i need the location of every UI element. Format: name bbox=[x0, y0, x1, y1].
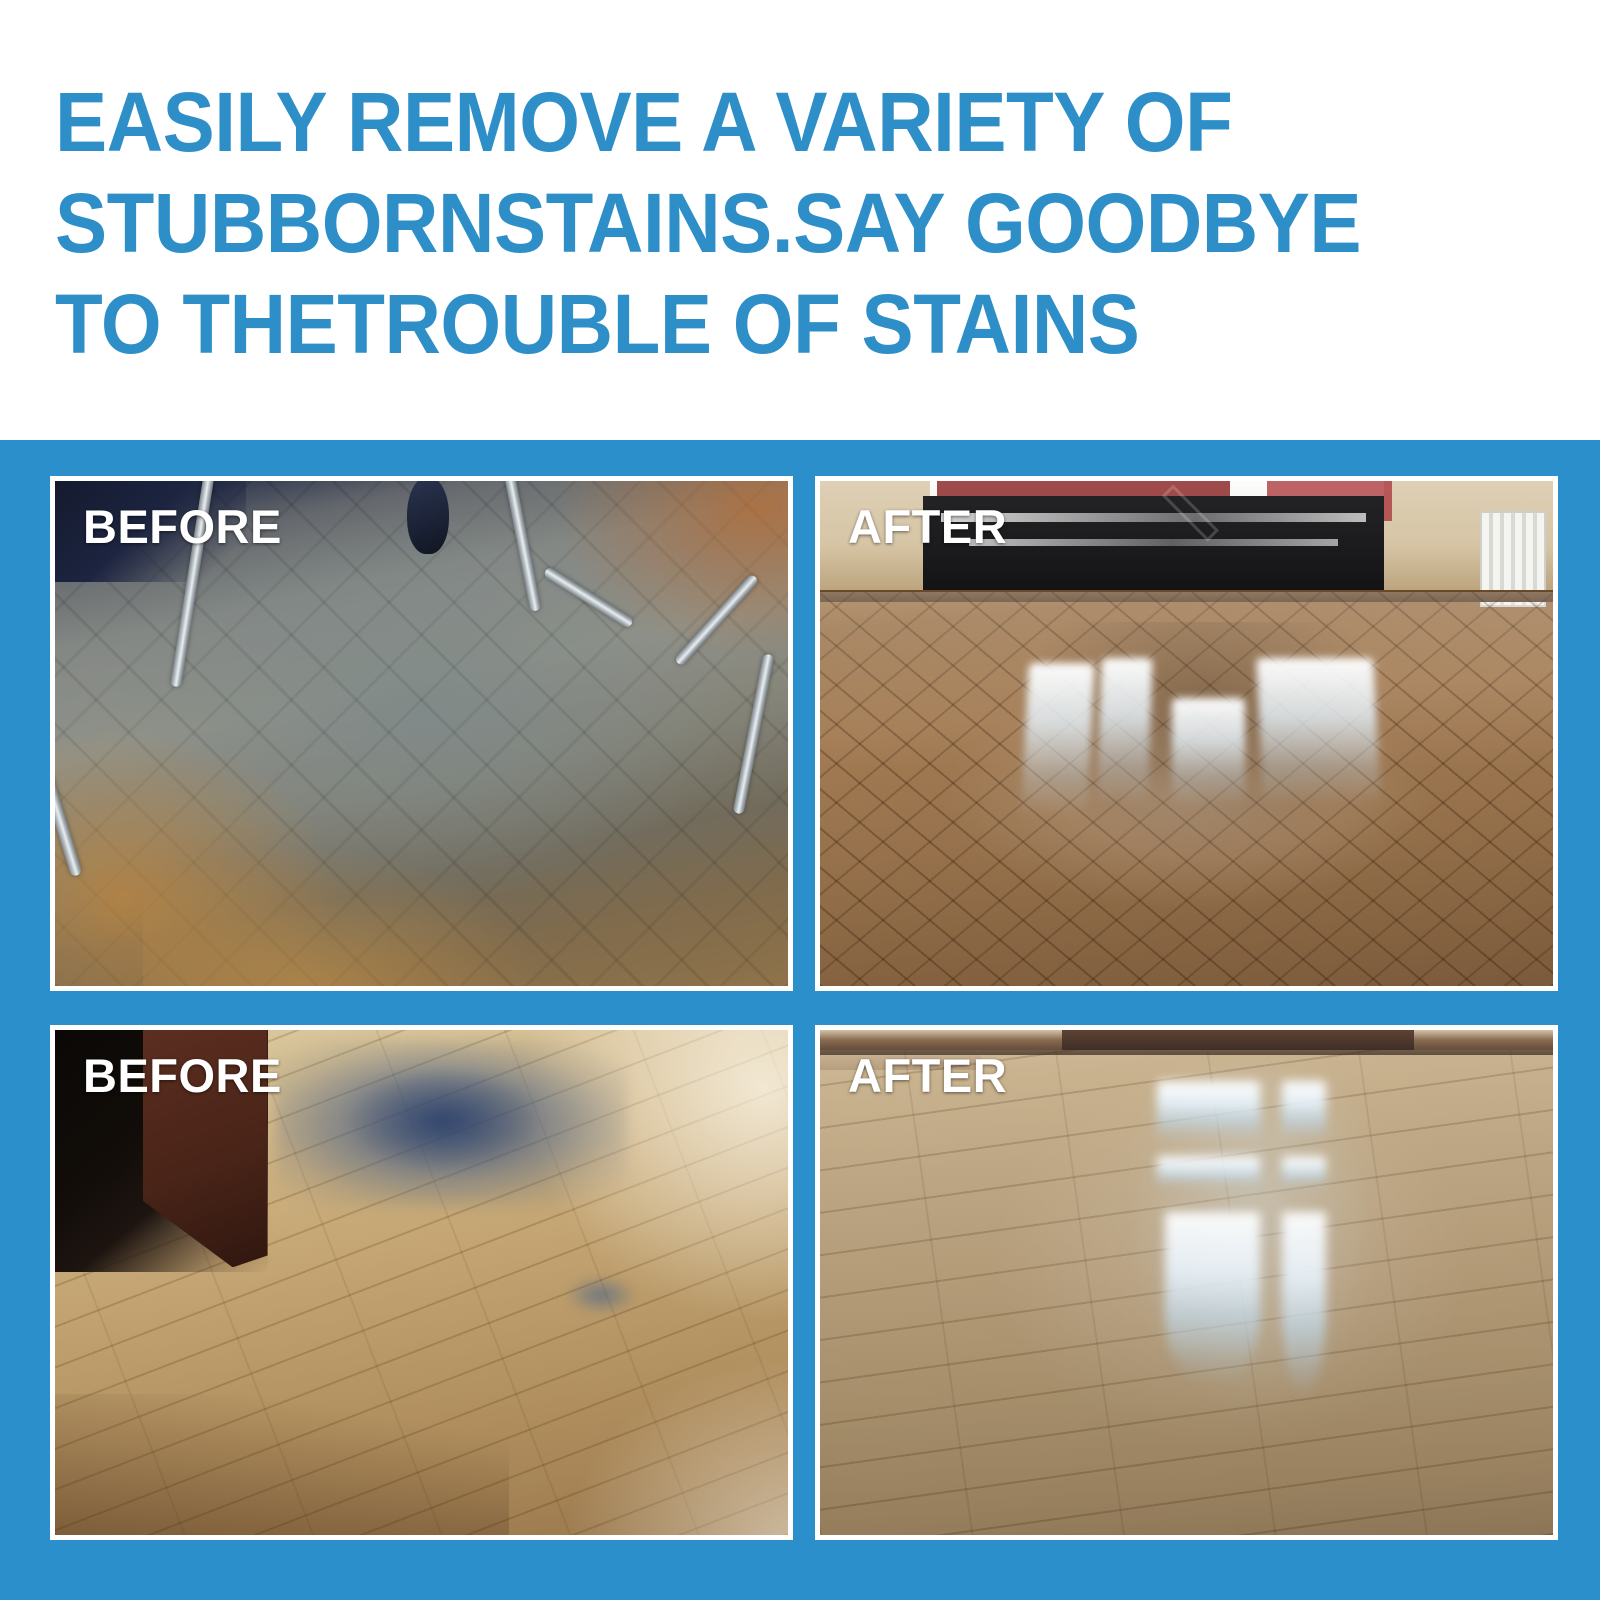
before-after-grid: BEFORE AFTER bbox=[50, 476, 1558, 1540]
poster: EASILY REMOVE A VARIETY OF STUBBORNSTAIN… bbox=[0, 0, 1600, 1600]
comparison-panel-before-top[interactable]: BEFORE bbox=[50, 476, 793, 991]
panel-label-before: BEFORE bbox=[83, 1052, 282, 1099]
comparison-panel-after-top[interactable]: AFTER bbox=[815, 476, 1558, 991]
gloss-sheen-overlay bbox=[820, 1030, 1553, 1535]
floor-photo-before-stained-oak bbox=[55, 1030, 788, 1535]
floor-photo-before-parquet bbox=[55, 481, 788, 986]
panel-label-after: AFTER bbox=[848, 1052, 1007, 1099]
blue-stain-core bbox=[348, 1070, 539, 1171]
highlight-bottom-right bbox=[568, 1358, 788, 1535]
gloss-sheen-overlay bbox=[820, 592, 1553, 986]
floor-photo-after-parquet bbox=[820, 481, 1553, 986]
comparison-panel-before-bottom[interactable]: BEFORE bbox=[50, 1025, 793, 1540]
panel-label-before: BEFORE bbox=[83, 503, 282, 550]
floor-shadow-bottom bbox=[55, 1394, 509, 1535]
header-banner: EASILY REMOVE A VARIETY OF STUBBORNSTAIN… bbox=[0, 0, 1600, 440]
floor-photo-after-oak bbox=[820, 1030, 1553, 1535]
page-title: EASILY REMOVE A VARIETY OF STUBBORNSTAIN… bbox=[55, 72, 1422, 375]
warm-wood-patch-bottom bbox=[143, 845, 546, 986]
blue-stain-small bbox=[568, 1277, 634, 1312]
comparison-panel-after-bottom[interactable]: AFTER bbox=[815, 1025, 1558, 1540]
panel-label-after: AFTER bbox=[848, 503, 1007, 550]
dark-object-icon bbox=[407, 481, 449, 554]
